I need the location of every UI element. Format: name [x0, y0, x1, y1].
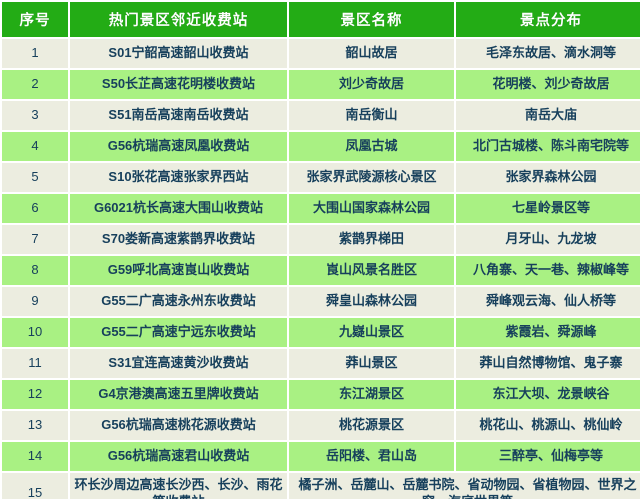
cell-toll-station: S10张花高速张家界西站 — [70, 163, 287, 192]
column-header-spot-distribution: 景点分布 — [456, 2, 640, 37]
cell-sequence-number: 2 — [2, 70, 68, 99]
cell-scenic-name: 紫鹊界梯田 — [289, 225, 454, 254]
table-row: 11S31宜连高速黄沙收费站莽山景区莽山自然博物馆、鬼子寨 — [2, 349, 640, 378]
column-header-toll-station: 热门景区邻近收费站 — [70, 2, 287, 37]
cell-scenic-name: 刘少奇故居 — [289, 70, 454, 99]
cell-toll-station: G56杭瑞高速桃花源收费站 — [70, 411, 287, 440]
cell-toll-station: S31宜连高速黄沙收费站 — [70, 349, 287, 378]
cell-toll-station: G55二广高速宁远东收费站 — [70, 318, 287, 347]
cell-sequence-number: 1 — [2, 39, 68, 68]
cell-sequence-number: 9 — [2, 287, 68, 316]
cell-scenic-name: 韶山故居 — [289, 39, 454, 68]
cell-sequence-number: 4 — [2, 132, 68, 161]
table-row: 13G56杭瑞高速桃花源收费站桃花源景区桃花山、桃源山、桃仙岭 — [2, 411, 640, 440]
cell-scenic-name: 南岳衡山 — [289, 101, 454, 130]
cell-spot-distribution: 毛泽东故居、滴水洞等 — [456, 39, 640, 68]
cell-spot-distribution: 七星岭景区等 — [456, 194, 640, 223]
cell-toll-station: G59呼北高速崀山收费站 — [70, 256, 287, 285]
toll-station-scenic-table-container: 序号 热门景区邻近收费站 景区名称 景点分布 1S01宁韶高速韶山收费站韶山故居… — [0, 0, 640, 499]
cell-sequence-number: 10 — [2, 318, 68, 347]
cell-sequence-number: 5 — [2, 163, 68, 192]
cell-spot-distribution: 紫霞岩、舜源峰 — [456, 318, 640, 347]
table-body: 1S01宁韶高速韶山收费站韶山故居毛泽东故居、滴水洞等2S50长芷高速花明楼收费… — [2, 39, 640, 499]
cell-sequence-number: 13 — [2, 411, 68, 440]
table-row: 1S01宁韶高速韶山收费站韶山故居毛泽东故居、滴水洞等 — [2, 39, 640, 68]
cell-toll-station: 环长沙周边高速长沙西、长沙、雨花等收费站 — [70, 473, 287, 499]
cell-scenic-name: 凤凰古城 — [289, 132, 454, 161]
toll-station-scenic-table: 序号 热门景区邻近收费站 景区名称 景点分布 1S01宁韶高速韶山收费站韶山故居… — [0, 0, 640, 499]
cell-scenic-name: 崀山风景名胜区 — [289, 256, 454, 285]
cell-toll-station: S51南岳高速南岳收费站 — [70, 101, 287, 130]
table-row: 7S70娄新高速紫鹊界收费站紫鹊界梯田月牙山、九龙坡 — [2, 225, 640, 254]
cell-scenic-name: 舜皇山森林公园 — [289, 287, 454, 316]
cell-toll-station: G56杭瑞高速凤凰收费站 — [70, 132, 287, 161]
cell-spot-distribution: 南岳大庙 — [456, 101, 640, 130]
table-row: 2S50长芷高速花明楼收费站刘少奇故居花明楼、刘少奇故居 — [2, 70, 640, 99]
cell-toll-station: G55二广高速永州东收费站 — [70, 287, 287, 316]
table-row: 3S51南岳高速南岳收费站南岳衡山南岳大庙 — [2, 101, 640, 130]
cell-sequence-number: 6 — [2, 194, 68, 223]
cell-sequence-number: 8 — [2, 256, 68, 285]
cell-toll-station: G6021杭长高速大围山收费站 — [70, 194, 287, 223]
column-header-seq: 序号 — [2, 2, 68, 37]
cell-spot-distribution: 舜峰观云海、仙人桥等 — [456, 287, 640, 316]
table-row: 4G56杭瑞高速凤凰收费站凤凰古城北门古城楼、陈斗南宅院等 — [2, 132, 640, 161]
cell-sequence-number: 15 — [2, 473, 68, 499]
table-row: 15环长沙周边高速长沙西、长沙、雨花等收费站橘子洲、岳麓山、岳麓书院、省动物园、… — [2, 473, 640, 499]
cell-scenic-name: 桃花源景区 — [289, 411, 454, 440]
cell-scenic-and-spots-merged: 橘子洲、岳麓山、岳麓书院、省动物园、省植物园、世界之窗、海底世界等 — [289, 473, 640, 499]
cell-toll-station: G56杭瑞高速君山收费站 — [70, 442, 287, 471]
table-header-row: 序号 热门景区邻近收费站 景区名称 景点分布 — [2, 2, 640, 37]
cell-spot-distribution: 月牙山、九龙坡 — [456, 225, 640, 254]
column-header-scenic-name: 景区名称 — [289, 2, 454, 37]
cell-spot-distribution: 桃花山、桃源山、桃仙岭 — [456, 411, 640, 440]
cell-sequence-number: 7 — [2, 225, 68, 254]
cell-spot-distribution: 东江大坝、龙景峡谷 — [456, 380, 640, 409]
cell-scenic-name: 九嶷山景区 — [289, 318, 454, 347]
table-header: 序号 热门景区邻近收费站 景区名称 景点分布 — [2, 2, 640, 37]
table-row: 12G4京港澳高速五里牌收费站东江湖景区东江大坝、龙景峡谷 — [2, 380, 640, 409]
cell-sequence-number: 3 — [2, 101, 68, 130]
cell-sequence-number: 12 — [2, 380, 68, 409]
table-row: 8G59呼北高速崀山收费站崀山风景名胜区八角寨、天一巷、辣椒峰等 — [2, 256, 640, 285]
cell-spot-distribution: 三醉亭、仙梅亭等 — [456, 442, 640, 471]
table-row: 6G6021杭长高速大围山收费站大围山国家森林公园七星岭景区等 — [2, 194, 640, 223]
table-row: 14G56杭瑞高速君山收费站岳阳楼、君山岛三醉亭、仙梅亭等 — [2, 442, 640, 471]
cell-spot-distribution: 花明楼、刘少奇故居 — [456, 70, 640, 99]
cell-sequence-number: 11 — [2, 349, 68, 378]
table-row: 10G55二广高速宁远东收费站九嶷山景区紫霞岩、舜源峰 — [2, 318, 640, 347]
cell-spot-distribution: 莽山自然博物馆、鬼子寨 — [456, 349, 640, 378]
cell-sequence-number: 14 — [2, 442, 68, 471]
table-row: 5S10张花高速张家界西站张家界武陵源核心景区张家界森林公园 — [2, 163, 640, 192]
cell-scenic-name: 岳阳楼、君山岛 — [289, 442, 454, 471]
cell-scenic-name: 东江湖景区 — [289, 380, 454, 409]
cell-spot-distribution: 张家界森林公园 — [456, 163, 640, 192]
cell-scenic-name: 张家界武陵源核心景区 — [289, 163, 454, 192]
cell-scenic-name: 大围山国家森林公园 — [289, 194, 454, 223]
cell-toll-station: S50长芷高速花明楼收费站 — [70, 70, 287, 99]
cell-toll-station: S70娄新高速紫鹊界收费站 — [70, 225, 287, 254]
cell-toll-station: G4京港澳高速五里牌收费站 — [70, 380, 287, 409]
cell-spot-distribution: 北门古城楼、陈斗南宅院等 — [456, 132, 640, 161]
table-row: 9G55二广高速永州东收费站舜皇山森林公园舜峰观云海、仙人桥等 — [2, 287, 640, 316]
cell-spot-distribution: 八角寨、天一巷、辣椒峰等 — [456, 256, 640, 285]
cell-scenic-name: 莽山景区 — [289, 349, 454, 378]
cell-toll-station: S01宁韶高速韶山收费站 — [70, 39, 287, 68]
